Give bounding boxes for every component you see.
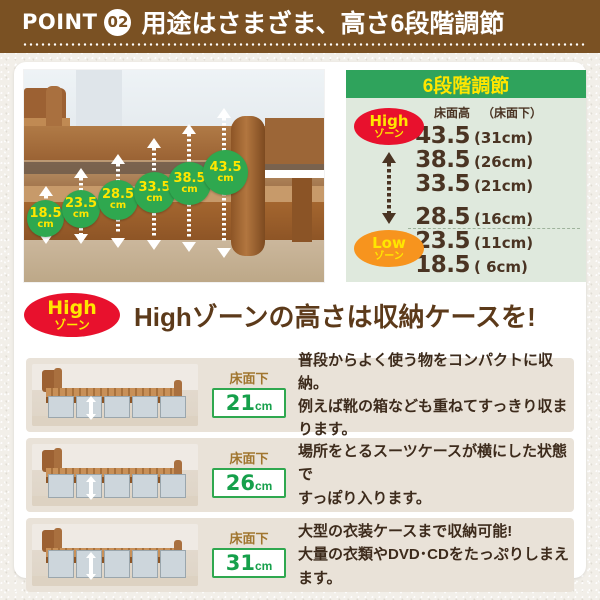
- height-badge-unit: cm: [110, 201, 126, 211]
- high-zone-section-heading: High ゾーン Highゾーンの高さは収納ケースを!: [24, 291, 576, 339]
- storage-bins: [48, 396, 186, 418]
- high-zone-sublabel: ゾーン: [374, 130, 404, 140]
- arrow-bar: [89, 402, 93, 414]
- arrow-down-icon: [86, 494, 96, 500]
- description-line-2: 大量の衣類やDVD･CDをたっぷりしまえます。: [298, 543, 574, 590]
- height-arrow-icon: [86, 396, 96, 420]
- description-line-2: 例えば靴の箱なども重ねてすっきり収まります。: [298, 395, 574, 442]
- measure-label: 床面下: [212, 532, 286, 546]
- under-floor-value: ( 6cm): [470, 258, 586, 276]
- arrow-up-icon: [111, 154, 125, 164]
- height-badge-unit: cm: [73, 210, 89, 220]
- under-floor-value: (21cm): [470, 177, 586, 195]
- arrow-down-icon: [86, 574, 96, 580]
- storage-bins: [48, 474, 186, 498]
- under-floor-value: (11cm): [470, 234, 586, 252]
- storage-bin: [104, 474, 130, 498]
- height-arrow-icon: [86, 476, 96, 500]
- measure-label: 床面下: [212, 452, 286, 466]
- arrow-down-icon: [74, 234, 88, 244]
- arrow-up-icon: [74, 168, 88, 178]
- height-badge-unit: cm: [37, 220, 53, 230]
- arrow-up-icon: [182, 124, 196, 134]
- measure-unit: cm: [255, 479, 272, 493]
- arrow-down-icon: [111, 238, 125, 248]
- height-badge-unit: cm: [146, 194, 162, 204]
- floor-height-value: 38.5: [346, 147, 470, 173]
- arrow-up-icon: [39, 186, 53, 196]
- arrow-up-icon: [147, 138, 161, 148]
- measure-value-box: 26cm: [212, 468, 286, 498]
- storage-description: 大型の衣装ケースまで収納可能! 大量の衣類やDVD･CDをたっぷりしまえます。: [298, 520, 574, 590]
- low-zone-badge: Low ゾーン: [354, 230, 424, 267]
- zone-range-arrow-icon: [386, 152, 392, 224]
- high-pill-sublabel: ゾーン: [54, 319, 89, 331]
- low-zone-label: Low: [372, 236, 406, 251]
- point-word-label: POINT: [22, 10, 97, 34]
- storage-bin: [132, 396, 158, 418]
- height-badge: 43.5 cm: [203, 150, 248, 195]
- arrow-down-icon: [217, 248, 231, 258]
- measure-value-box: 31cm: [212, 548, 286, 578]
- floor-height-value: 28.5: [346, 204, 470, 230]
- storage-bin: [160, 396, 186, 418]
- storage-photo: [32, 524, 198, 586]
- description-line-1: 普段からよく使う物をコンパクトに収納。: [298, 349, 574, 396]
- storage-row: 床面下 26cm 場所をとるスーツケースが横にした状態で すっぽり入ります。: [26, 438, 574, 512]
- header-dotted-divider: [22, 43, 586, 46]
- height-badge-unit: cm: [217, 174, 233, 184]
- storage-bins: [48, 550, 186, 578]
- storage-description: 普段からよく使う物をコンパクトに収納。 例えば靴の箱なども重ねてすっきり収まりま…: [298, 349, 574, 442]
- description-line-1: 場所をとるスーツケースが横にした状態で: [298, 440, 574, 487]
- arrow-bar: [89, 558, 93, 574]
- measure-value: 26: [226, 471, 255, 495]
- height-arrow-icon: [86, 552, 96, 580]
- storage-bin: [132, 474, 158, 498]
- high-pill-label: High: [47, 299, 97, 318]
- storage-bin: [132, 550, 158, 578]
- storage-bin: [48, 474, 74, 498]
- arrow-bar: [89, 482, 93, 494]
- arrow-down-icon: [86, 414, 96, 420]
- height-badge: 18.5 cm: [27, 200, 64, 237]
- floor-height-value: 33.5: [346, 171, 470, 197]
- under-floor-value: (16cm): [470, 210, 586, 228]
- storage-photo: [32, 444, 198, 506]
- page-title: 用途はさまざま、高さ6段階調節: [141, 4, 504, 40]
- height-badge: 23.5 cm: [62, 190, 100, 228]
- arrow-down-icon: [147, 240, 161, 250]
- point-header-bar: POINT 02 用途はさまざま、高さ6段階調節: [0, 0, 600, 53]
- point-number-badge: 02: [104, 9, 131, 36]
- table-row: 33.5 (21cm): [346, 171, 586, 195]
- measure-block: 床面下 21cm: [212, 372, 286, 418]
- measure-unit: cm: [255, 399, 272, 413]
- storage-row: 床面下 31cm 大型の衣装ケースまで収納可能! 大量の衣類やDVD･CDをたっ…: [26, 518, 574, 592]
- under-floor-value: (31cm): [470, 129, 586, 147]
- high-zone-label: High: [369, 114, 408, 129]
- panel-title: 6段階調節: [346, 70, 586, 98]
- bed-height-photo: 18.5 cm 23.5 cm 28.5 cm 33.5 cm: [24, 70, 324, 282]
- measure-block: 床面下 26cm: [212, 452, 286, 498]
- photo-floor: [24, 240, 324, 282]
- storage-bin: [104, 396, 130, 418]
- column-header-under-floor: （床面下）: [472, 104, 586, 121]
- arrow-up-icon: [217, 108, 231, 118]
- photo-far-leg: [292, 178, 312, 242]
- arrow-down-icon: [182, 242, 196, 252]
- photo-far-frame: [265, 118, 324, 164]
- measure-unit: cm: [255, 559, 272, 573]
- arrow-up-icon: [382, 152, 396, 163]
- storage-bin: [48, 550, 74, 578]
- low-zone-sublabel: ゾーン: [374, 252, 404, 262]
- under-floor-value: (26cm): [470, 153, 586, 171]
- adjustment-table-panel: 6段階調節 床面高 （床面下） 43.5 (31cm) 38.5 (26cm) …: [346, 70, 586, 282]
- height-badge: 28.5 cm: [98, 180, 138, 220]
- storage-bin: [160, 550, 186, 578]
- dotted-line: [387, 163, 391, 213]
- storage-description: 場所をとるスーツケースが横にした状態で すっぽり入ります。: [298, 440, 574, 510]
- storage-bin: [48, 396, 74, 418]
- storage-bin: [104, 550, 130, 578]
- measure-block: 床面下 31cm: [212, 532, 286, 578]
- header-inner: POINT 02 用途はさまざま、高さ6段階調節: [0, 0, 600, 44]
- high-zone-pill: High ゾーン: [24, 293, 120, 337]
- measure-value: 31: [226, 551, 255, 575]
- arrow-down-icon: [382, 213, 396, 224]
- measure-value-box: 21cm: [212, 388, 286, 418]
- storage-photo: [32, 364, 198, 426]
- storage-bin: [160, 474, 186, 498]
- description-line-1: 大型の衣装ケースまで収納可能!: [298, 520, 574, 543]
- high-zone-badge: High ゾーン: [354, 108, 424, 145]
- description-line-2: すっぽり入ります。: [298, 487, 574, 510]
- measure-value: 21: [226, 391, 255, 415]
- measure-label: 床面下: [212, 372, 286, 386]
- photo-gap: [265, 170, 324, 178]
- zone-divider: [408, 228, 580, 229]
- storage-row: 床面下 21cm 普段からよく使う物をコンパクトに収納。 例えば靴の箱なども重ね…: [26, 358, 574, 432]
- section-heading-text: Highゾーンの高さは収納ケースを!: [134, 297, 536, 334]
- height-badge-unit: cm: [181, 185, 197, 195]
